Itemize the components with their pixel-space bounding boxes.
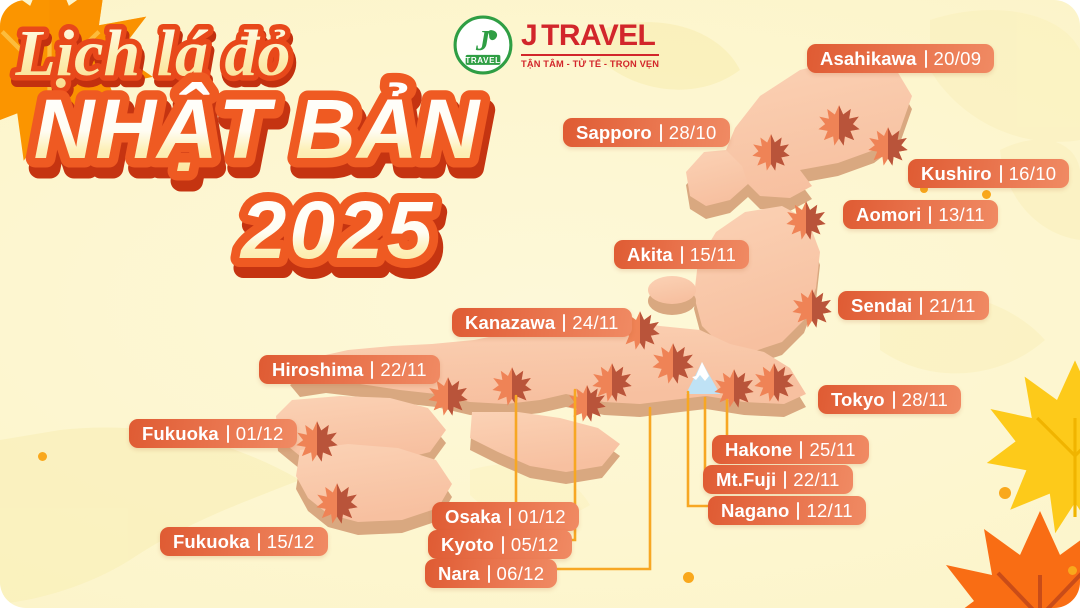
brand-tagline: TẬN TÂM - TỬ TẾ - TRỌN VẸN (521, 60, 659, 69)
city-label-name: Osaka (445, 506, 501, 528)
city-label-sendai[interactable]: Sendai21/11 (838, 291, 989, 320)
city-label-akita[interactable]: Akita15/11 (614, 240, 749, 269)
city-label-separator (1000, 165, 1002, 183)
city-label-asahikawa[interactable]: Asahikawa20/09 (807, 44, 994, 73)
headline-main-fill: NHẬT BẢN (34, 82, 482, 176)
city-label-mtfuji[interactable]: Mt.Fuji22/11 (703, 465, 853, 494)
city-label-name: Nagano (721, 500, 789, 522)
map-region-shikoku (276, 396, 446, 475)
city-label-date: 25/11 (809, 439, 855, 461)
city-label-separator (893, 391, 895, 409)
headline-year-fill: 2025 (239, 185, 435, 276)
headline-script-fill: Lịch lá đỏ (15, 17, 291, 90)
brand-rule (521, 54, 659, 57)
decor-dot (38, 452, 47, 461)
city-label-name: Akita (627, 244, 673, 266)
city-label-nara[interactable]: Nara06/12 (425, 559, 557, 588)
city-label-name: Nara (438, 563, 480, 585)
city-label-separator (681, 246, 683, 264)
city-label-kyoto[interactable]: Kyoto05/12 (428, 530, 572, 559)
city-label-separator (800, 441, 802, 459)
city-label-name: Fukuoka (142, 423, 219, 445)
poster-headline: Lịch lá đỏ Lịch lá đỏ Lịch lá đỏ NHẬT BẢ… (0, 0, 520, 290)
brand-j: J (521, 21, 537, 51)
mt-fuji-icon (686, 362, 720, 394)
headline-main: NHẬT BẢN NHẬT BẢN NHẬT BẢN (34, 82, 486, 186)
map-region-kyushu (296, 444, 452, 535)
city-label-date: 15/12 (267, 531, 315, 553)
city-label-separator (502, 536, 504, 554)
city-label-date: 12/11 (806, 500, 852, 522)
decor-dot (683, 572, 694, 583)
city-label-date: 01/12 (236, 423, 284, 445)
city-label-date: 15/11 (690, 244, 736, 266)
city-label-separator (509, 508, 511, 526)
city-label-date: 16/10 (1009, 163, 1057, 185)
city-label-date: 24/11 (572, 312, 618, 334)
city-label-separator (488, 565, 490, 583)
decor-dot (999, 487, 1011, 499)
brand-logo[interactable]: J TRAVEL J TRAVEL TẬN TÂM - TỬ TẾ - TRỌN… (452, 14, 659, 76)
city-label-name: Asahikawa (820, 48, 917, 70)
city-label-fukuoka1[interactable]: Fukuoka01/12 (129, 419, 297, 448)
city-label-separator (920, 297, 922, 315)
city-label-separator (925, 50, 927, 68)
map-region-tohoku (694, 206, 820, 365)
city-label-date: 06/12 (497, 563, 545, 585)
brand-travel: TRAVEL (541, 21, 655, 51)
jtravel-emblem-icon: J TRAVEL (452, 14, 514, 76)
city-label-name: Tokyo (831, 389, 885, 411)
city-label-fukuoka2[interactable]: Fukuoka15/12 (160, 527, 328, 556)
city-label-date: 01/12 (518, 506, 566, 528)
city-label-separator (660, 124, 662, 142)
city-label-kushiro[interactable]: Kushiro16/10 (908, 159, 1069, 188)
city-label-date: 13/11 (938, 204, 984, 226)
city-label-nagano[interactable]: Nagano12/11 (708, 496, 866, 525)
decor-leaf-bottom-right-orange (940, 505, 1080, 608)
city-label-separator (797, 502, 799, 520)
city-label-separator (784, 471, 786, 489)
city-label-name: Kyoto (441, 534, 494, 556)
city-label-name: Hiroshima (272, 359, 363, 381)
city-label-name: Hakone (725, 439, 792, 461)
decor-dot (982, 190, 991, 199)
city-label-aomori[interactable]: Aomori13/11 (843, 200, 998, 229)
city-label-name: Kushiro (921, 163, 992, 185)
city-label-name: Kanazawa (465, 312, 555, 334)
city-label-date: 22/11 (793, 469, 839, 491)
city-label-name: Fukuoka (173, 531, 250, 553)
city-label-separator (929, 206, 931, 224)
headline-year: 2025 2025 2025 (239, 185, 439, 286)
city-label-date: 22/11 (380, 359, 426, 381)
city-label-date: 28/10 (669, 122, 717, 144)
city-label-name: Sapporo (576, 122, 652, 144)
city-label-tokyo[interactable]: Tokyo28/11 (818, 385, 961, 414)
city-label-date: 20/09 (934, 48, 982, 70)
city-label-kanazawa[interactable]: Kanazawa24/11 (452, 308, 632, 337)
city-label-name: Mt.Fuji (716, 469, 776, 491)
city-label-separator (563, 314, 565, 332)
city-label-hiroshima[interactable]: Hiroshima22/11 (259, 355, 440, 384)
city-label-date: 21/11 (929, 295, 975, 317)
city-label-hakone[interactable]: Hakone25/11 (712, 435, 869, 464)
city-label-separator (258, 533, 260, 551)
infographic-poster: Lịch lá đỏ Lịch lá đỏ Lịch lá đỏ NHẬT BẢ… (0, 0, 1080, 608)
decor-leaf-bottom-right-yellow (985, 355, 1080, 535)
city-label-date: 05/12 (511, 534, 559, 556)
city-label-date: 28/11 (902, 389, 948, 411)
city-label-name: Aomori (856, 204, 921, 226)
city-label-sapporo[interactable]: Sapporo28/10 (563, 118, 730, 147)
city-label-osaka[interactable]: Osaka01/12 (432, 502, 579, 531)
city-label-separator (371, 361, 373, 379)
city-label-separator (227, 425, 229, 443)
emblem-word: TRAVEL (465, 56, 500, 65)
decor-dot (1068, 566, 1077, 575)
city-label-name: Sendai (851, 295, 912, 317)
